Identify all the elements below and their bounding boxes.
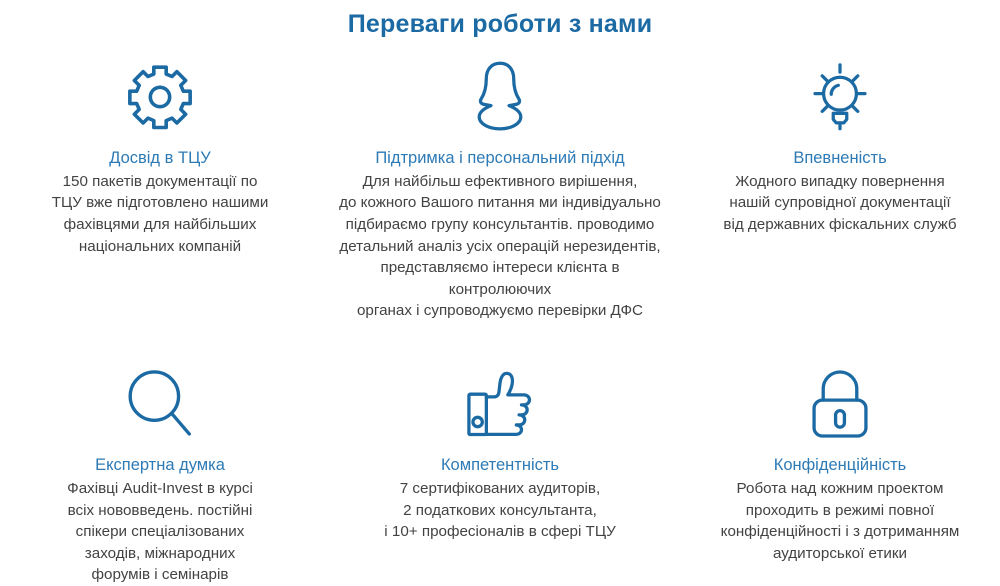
person-support-icon — [469, 53, 531, 141]
benefit-card-title: Досвід в ТЦУ — [109, 147, 211, 169]
benefit-card-title: Компетентність — [441, 454, 559, 476]
benefit-card-body: Для найбільш ефективного вирішення, до к… — [328, 171, 672, 322]
benefit-card-expert-opinion: Експертна думка Фахівці Audit-Invest в к… — [0, 360, 320, 586]
benefit-card-confidence: Впевненість Жодного випадку повернення н… — [680, 53, 1000, 322]
benefit-card-body: Жодного випадку повернення нашій супрові… — [723, 171, 956, 236]
benefit-card-title: Конфіденційність — [774, 454, 907, 476]
page-title: Переваги роботи з нами — [0, 0, 1000, 41]
padlock-icon — [808, 360, 872, 448]
benefit-card-title: Експертна думка — [95, 454, 225, 476]
benefit-card-body: 150 пакетів документації по ТЦУ вже підг… — [52, 171, 269, 257]
benefit-card-body: 7 сертифікованих аудиторів, 2 податкових… — [384, 478, 615, 543]
benefit-card-title: Підтримка і персональний підхід — [375, 147, 624, 169]
gear-icon — [124, 53, 196, 141]
benefit-card-confidentiality: Конфіденційність Робота над кожним проек… — [680, 360, 1000, 586]
magnifier-icon — [125, 360, 195, 448]
benefit-card-experience: Досвід в ТЦУ 150 пакетів документації по… — [0, 53, 320, 322]
thumbs-up-icon — [464, 360, 536, 448]
row-spacer — [0, 322, 1000, 348]
benefit-card-title: Впевненість — [793, 147, 886, 169]
benefit-card-body: Фахівці Audit-Invest в курсі всіх нововв… — [67, 478, 253, 586]
benefit-card-support: Підтримка і персональний підхід Для найб… — [320, 53, 680, 322]
benefit-card-body: Робота над кожним проектом проходить в р… — [721, 478, 960, 564]
benefits-grid-row-1: Досвід в ТЦУ 150 пакетів документації по… — [0, 53, 1000, 322]
benefit-card-competence: Компетентність 7 сертифікованих аудиторі… — [320, 360, 680, 586]
benefits-page: Переваги роботи з нами Досвід в ТЦУ 150 … — [0, 0, 1000, 535]
lightbulb-icon — [804, 53, 876, 141]
benefits-grid-row-2: Експертна думка Фахівці Audit-Invest в к… — [0, 360, 1000, 586]
